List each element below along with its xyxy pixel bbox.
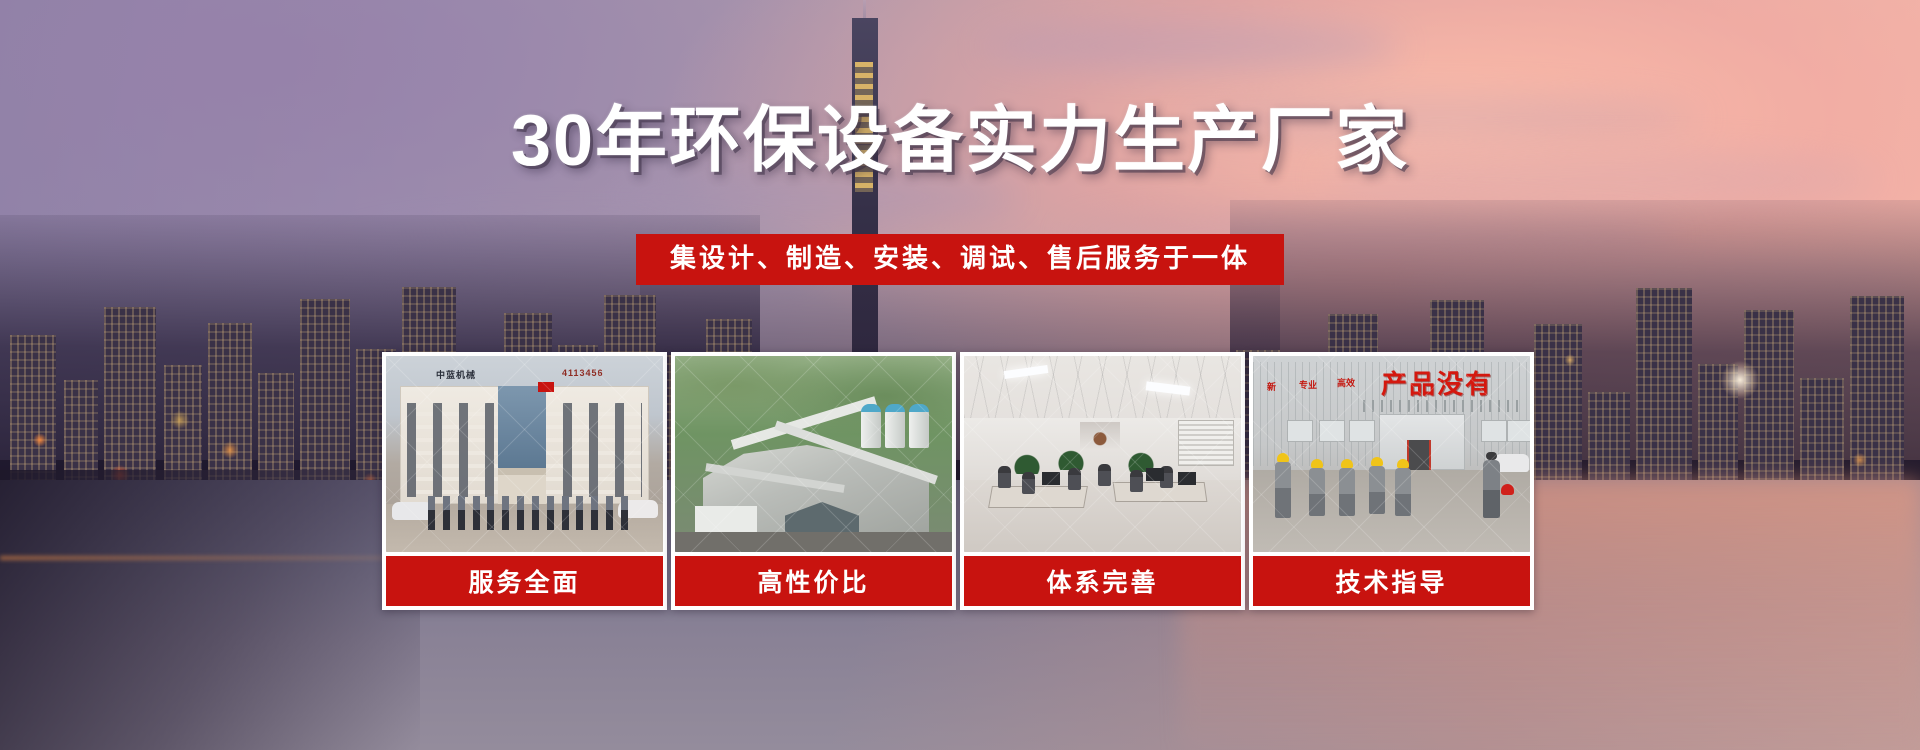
window-blinds bbox=[1178, 420, 1234, 466]
factory-wall-slogan-small: 专业 bbox=[1299, 378, 1317, 391]
office-workspace-photo bbox=[964, 356, 1241, 552]
feature-card[interactable]: 产品没有 新 专业 高效 bbox=[1249, 352, 1534, 610]
feature-card[interactable]: 体系完善 bbox=[960, 352, 1245, 610]
storage-silo bbox=[885, 404, 905, 448]
factory-window bbox=[1349, 420, 1375, 442]
office-worker bbox=[1068, 468, 1081, 490]
banner-headline: 30年环保设备实力生产厂家 bbox=[0, 105, 1920, 177]
banner-subtitle-wrap: 集设计、制造、安装、调试、售后服务于一体 bbox=[0, 234, 1920, 285]
potted-plant bbox=[1012, 452, 1042, 474]
storage-silo bbox=[861, 404, 881, 448]
factory-wall-slogan-small: 高效 bbox=[1337, 376, 1355, 389]
computer-monitor bbox=[1178, 472, 1196, 485]
factory-worker bbox=[1395, 468, 1411, 516]
factory-worker bbox=[1275, 462, 1291, 518]
feature-card-list: 中蓝机械 4113456 服务全面 bbox=[382, 352, 1534, 610]
office-worker bbox=[998, 466, 1011, 488]
computer-monitor bbox=[1042, 472, 1060, 485]
banner-subtitle: 集设计、制造、安装、调试、售后服务于一体 bbox=[636, 234, 1284, 285]
feature-card-label: 体系完善 bbox=[964, 556, 1241, 606]
office-worker bbox=[1130, 470, 1143, 492]
feature-card-label: 服务全面 bbox=[386, 556, 663, 606]
flag-icon bbox=[538, 382, 554, 392]
hero-banner: 30年环保设备实力生产厂家 集设计、制造、安装、调试、售后服务于一体 中蓝机械 … bbox=[0, 0, 1920, 750]
feature-card[interactable]: 高性价比 bbox=[671, 352, 956, 610]
factory-window bbox=[1481, 420, 1507, 442]
staff-lineup bbox=[428, 496, 628, 534]
feature-card-label: 技术指导 bbox=[1253, 556, 1530, 606]
factory-worker bbox=[1369, 466, 1385, 514]
red-helmet-icon bbox=[1501, 484, 1514, 495]
photo-logo-text: 中蓝机械 bbox=[436, 368, 476, 381]
factory-window bbox=[1319, 420, 1345, 442]
potted-plant bbox=[1056, 448, 1086, 470]
factory-worker bbox=[1309, 468, 1325, 516]
office-worker bbox=[1098, 464, 1111, 486]
office-ceiling bbox=[964, 356, 1241, 418]
plant-yard bbox=[675, 532, 952, 552]
wall-decal bbox=[1080, 422, 1120, 450]
computer-monitor bbox=[1146, 468, 1164, 481]
feature-card-label: 高性价比 bbox=[675, 556, 952, 606]
factory-window bbox=[1507, 420, 1530, 442]
banner-content: 30年环保设备实力生产厂家 集设计、制造、安装、调试、售后服务于一体 中蓝机械 … bbox=[0, 0, 1920, 750]
feature-card[interactable]: 中蓝机械 4113456 服务全面 bbox=[382, 352, 667, 610]
office-worker bbox=[1022, 472, 1035, 494]
factory-wall-slogan-small: 新 bbox=[1267, 380, 1276, 393]
wall-vents bbox=[1363, 400, 1523, 412]
factory-workers-photo: 产品没有 新 专业 高效 bbox=[1253, 356, 1530, 552]
factory-worker bbox=[1339, 468, 1355, 516]
photo-phone-text: 4113456 bbox=[562, 368, 604, 378]
company-headquarters-photo: 中蓝机械 4113456 bbox=[386, 356, 663, 552]
factory-supervisor bbox=[1483, 460, 1500, 518]
factory-window bbox=[1287, 420, 1313, 442]
factory-side-door bbox=[1407, 440, 1431, 470]
factory-wall-slogan: 产品没有 bbox=[1381, 364, 1493, 401]
storage-silo bbox=[909, 404, 929, 448]
industrial-plant-aerial-photo bbox=[675, 356, 952, 552]
